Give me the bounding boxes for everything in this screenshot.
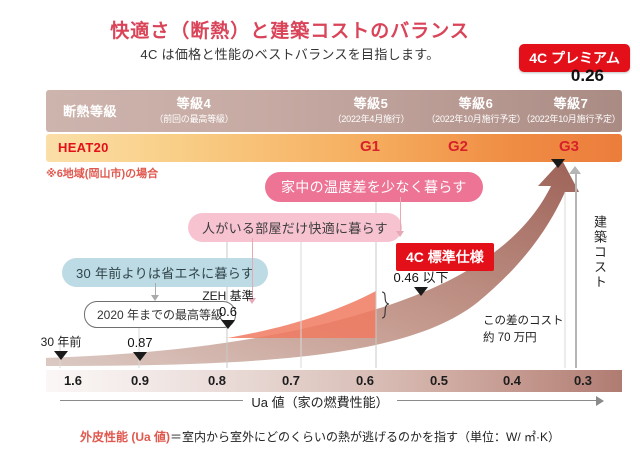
grade-sub: （2022年4月施行）: [316, 110, 426, 124]
grade-cell-6: 等級6 （2022年10月施行予定）: [421, 90, 531, 132]
scale-value-1: 0.9: [120, 373, 160, 388]
cost-axis-line: [575, 172, 577, 368]
marker-value-0-87: 0.87: [110, 335, 170, 361]
marker-triangle-icon: [133, 352, 147, 361]
grade-cell-5: 等級5 （2022年4月施行）: [316, 90, 426, 132]
grade-name: 等級5: [316, 90, 426, 110]
scale-value-4: 0.6: [345, 373, 385, 388]
grade-sub: （2022年10月施行予定）: [516, 110, 626, 124]
footnote-term: 外皮性能 (Ua 値): [80, 430, 170, 444]
footnote-rest: ＝室内から室外にどのくらいの熱が逃げるのかを指す（単位：W/ ㎡·K）: [170, 430, 560, 444]
heat20-grade-g1: G1: [352, 138, 388, 155]
footnote: 外皮性能 (Ua 値)＝室内から室外にどのくらいの熱が逃げるのかを指す（単位：W…: [0, 428, 640, 445]
heat20-grade-g2: G2: [440, 138, 476, 155]
grade-sub: （前回の最高等級）: [134, 110, 254, 124]
ua-axis-label: Ua 値（家の燃費性能）: [243, 395, 396, 410]
cost-difference-line2: 約 70 万円: [483, 330, 564, 347]
page-title: 快適さ（断熱）と建築コストのバランス: [0, 16, 640, 43]
scale-value-3: 0.7: [271, 373, 311, 388]
arrow-down-icon-temp: [393, 197, 407, 237]
cost-axis-label: 建築コスト: [590, 215, 609, 290]
scale-value-6: 0.4: [492, 373, 532, 388]
grade-name: 等級6: [421, 90, 531, 110]
scale-value-7: 0.3: [563, 373, 603, 388]
marker-triangle-icon: [54, 351, 68, 360]
grade-cell-4: 等級4 （前回の最高等級）: [134, 90, 254, 132]
scale-value-5: 0.5: [419, 373, 459, 388]
grade-bar: 断熱等級 等級4 （前回の最高等級） 等級5 （2022年4月施行） 等級6 （…: [46, 90, 622, 132]
infographic-root: 快適さ（断熱）と建築コストのバランス 4C は価格と性能のベストバランスを目指し…: [0, 0, 640, 461]
marker-thirty-years-ago: 30 年前: [32, 336, 90, 360]
bubble-room-only-comfort: 人がいる部屋だけ快適に暮らす: [188, 213, 402, 242]
heat20-label: HEAT20: [58, 140, 109, 155]
scale-value-2: 0.8: [197, 373, 237, 388]
heat20-bar: HEAT20 G1 G2 G3: [46, 134, 622, 162]
marker-triangle-icon: [551, 159, 565, 168]
bubble-energy-saving: 30 年前よりは省エネに暮らす: [62, 258, 268, 287]
cost-difference-line1: この差のコスト: [483, 313, 564, 330]
marker-zeh-standard: ZEH 基準 0.6: [197, 290, 259, 329]
heat20-grade-g3: G3: [551, 138, 587, 155]
ua-axis-label-wrap: Ua 値（家の燃費性能）: [0, 392, 640, 411]
scale-value-0: 1.6: [53, 373, 93, 388]
marker-4c-standard-value: 0.46 以下: [381, 270, 461, 296]
grade-bar-lead-label: 断熱等級: [46, 90, 134, 132]
grade-cell-7: 等級7 （2022年10月施行予定）: [516, 90, 626, 132]
grade-sub: （2022年10月施行予定）: [421, 110, 531, 124]
badge-4c-standard-spec: 4C 標準仕様: [396, 243, 494, 271]
marker-triangle-icon: [221, 320, 235, 329]
arrow-down-icon-energy: [148, 283, 162, 301]
marker-triangle-icon: [414, 287, 428, 296]
premium-value: 0.26: [571, 66, 604, 86]
grade-name: 等級4: [134, 90, 254, 110]
cost-difference-annotation: この差のコスト 約 70 万円: [483, 313, 564, 346]
grade-name: 等級7: [516, 90, 626, 110]
bubble-temperature-difference: 家中の温度差を少なく暮らす: [265, 172, 483, 202]
